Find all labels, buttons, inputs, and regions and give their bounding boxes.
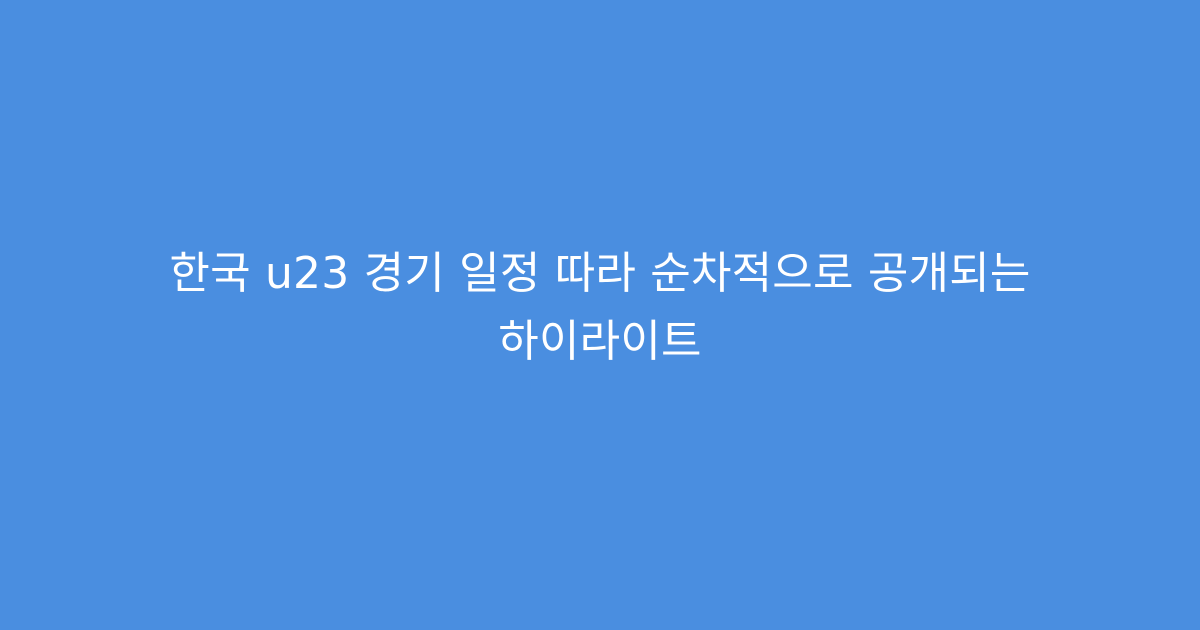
page-title: 한국 u23 경기 일정 따라 순차적으로 공개되는 하이라이트 — [100, 240, 1100, 376]
social-card-canvas: 한국 u23 경기 일정 따라 순차적으로 공개되는 하이라이트 — [0, 0, 1200, 630]
headline-block: 한국 u23 경기 일정 따라 순차적으로 공개되는 하이라이트 — [90, 240, 1110, 376]
